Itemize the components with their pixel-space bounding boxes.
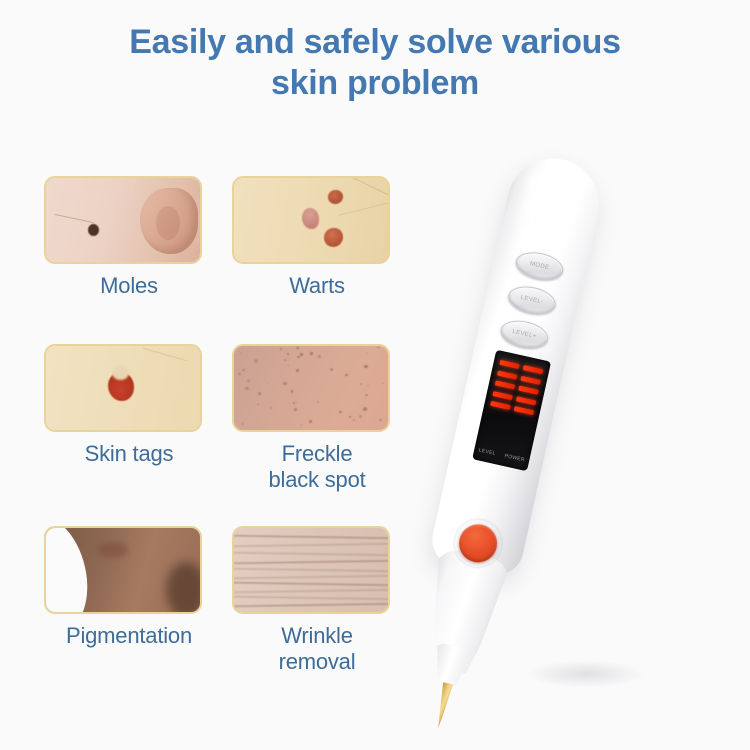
thumbnail-warts — [232, 176, 390, 264]
freckle-photo — [234, 346, 388, 430]
plasma-pen-device: MODE LEVEL- LEVEL+ LEVEL POWER — [410, 150, 608, 658]
device-shadow — [526, 660, 646, 688]
warts-photo — [234, 178, 388, 262]
moles-photo — [46, 178, 200, 262]
pigmentation-photo — [46, 528, 200, 612]
condition-card-warts: Warts — [232, 176, 402, 299]
pen-needle-tip — [431, 682, 455, 730]
page-title-line-1: Easily and safely solve various — [0, 22, 750, 63]
thumbnail-freckle — [232, 344, 390, 432]
thumbnail-wrinkle — [232, 526, 390, 614]
thumbnail-moles — [44, 176, 202, 264]
page-title: Easily and safely solve various skin pro… — [0, 22, 750, 105]
thumbnail-pigmentation — [44, 526, 202, 614]
page-title-line-2: skin problem — [0, 63, 750, 104]
condition-card-pigmentation: Pigmentation — [44, 526, 214, 649]
condition-label-pigmentation: Pigmentation — [44, 623, 214, 649]
device-power-button[interactable] — [455, 521, 500, 566]
skin-condition-grid: Moles Warts Skin tags Freckle — [44, 176, 434, 696]
display-label-power: POWER — [504, 453, 525, 463]
condition-label-moles: Moles — [44, 273, 214, 299]
condition-label-skin-tags: Skin tags — [44, 441, 214, 467]
condition-card-freckle: Freckle black spot — [232, 344, 402, 492]
display-label-level: LEVEL — [478, 447, 496, 457]
device-image: MODE LEVEL- LEVEL+ LEVEL POWER — [430, 140, 750, 710]
thumbnail-skin-tags — [44, 344, 202, 432]
skin-tags-photo — [46, 346, 200, 430]
condition-label-warts: Warts — [232, 273, 402, 299]
condition-card-wrinkle: Wrinkle removal — [232, 526, 402, 674]
condition-label-freckle: Freckle black spot — [232, 441, 402, 492]
condition-card-moles: Moles — [44, 176, 214, 299]
condition-label-wrinkle: Wrinkle removal — [232, 623, 402, 674]
condition-card-skin-tags: Skin tags — [44, 344, 214, 467]
wrinkle-photo — [234, 528, 388, 612]
